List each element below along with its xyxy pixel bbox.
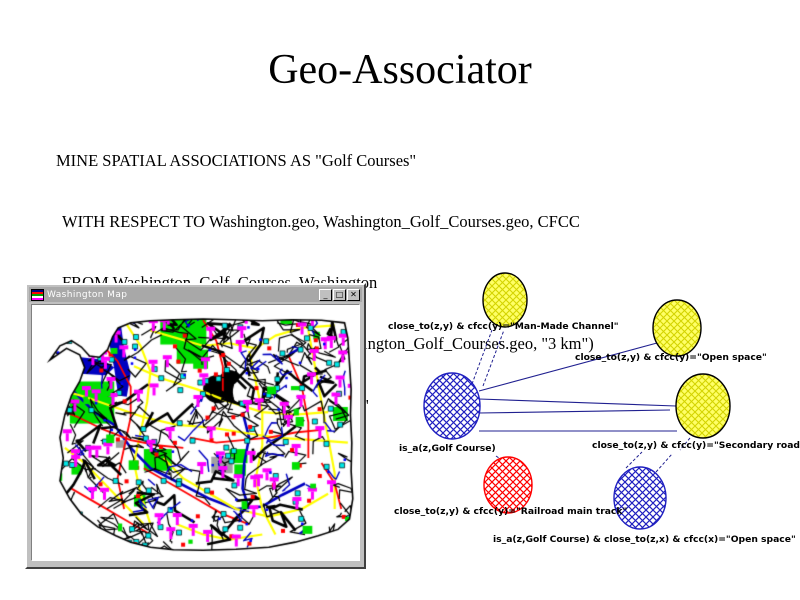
- node-secondary-road[interactable]: [676, 374, 730, 438]
- label-open-space: close_to(z,y) & cfcc(y)="Open space": [575, 352, 767, 363]
- association-graph-svg: close_to(z,y) & cfcc(y)="Man-Made Channe…: [380, 258, 800, 578]
- maximize-icon: □: [334, 290, 345, 299]
- leader-man-made-channel-b: [483, 330, 504, 386]
- node-railroad-main-track[interactable]: [484, 457, 532, 513]
- map-window[interactable]: Washington Map _ □ ✕: [25, 283, 366, 569]
- association-graph: close_to(z,y) & cfcc(y)="Man-Made Channe…: [380, 258, 800, 578]
- minimize-icon: _: [320, 290, 331, 299]
- page-title: Geo-Associator: [0, 47, 800, 93]
- slide-root: Geo-Associator MINE SPATIAL ASSOCIATIONS…: [0, 0, 800, 600]
- label-is-a-golf-course: is_a(z,Golf Course): [399, 443, 496, 454]
- node-open-space-top[interactable]: [653, 300, 701, 356]
- label-railroad-main-track: close_to(z,y) & cfcc(y)="Railroad main t…: [394, 506, 627, 517]
- minimize-button[interactable]: _: [319, 289, 332, 301]
- edge-golf-to-open-space-top: [479, 343, 657, 391]
- close-button[interactable]: ✕: [347, 289, 360, 301]
- node-open-space-combined[interactable]: [614, 467, 666, 529]
- map-window-titlebar[interactable]: Washington Map _ □ ✕: [29, 287, 362, 302]
- leader-man-made-channel-a: [472, 330, 492, 384]
- query-line-mine: MINE SPATIAL ASSOCIATIONS AS "Golf Cours…: [56, 151, 594, 171]
- leader-secondary-road-c: [656, 454, 672, 472]
- leader-secondary-road-b: [626, 452, 642, 468]
- washington-gis-map[interactable]: [32, 305, 360, 560]
- edge-golf-to-secondary-road-a: [479, 399, 676, 406]
- label-man-made-channel: close_to(z,y) & cfcc(y)="Man-Made Channe…: [388, 321, 619, 332]
- graph-nodes: [424, 273, 730, 529]
- query-line-with: WITH RESPECT TO Washington.geo, Washingt…: [56, 212, 594, 232]
- maximize-button[interactable]: □: [333, 289, 346, 301]
- label-open-space-combined: is_a(z,Golf Course) & close_to(z,x) & cf…: [493, 534, 796, 545]
- node-golf-course[interactable]: [424, 373, 480, 439]
- edge-golf-to-secondary-road-b: [479, 410, 670, 413]
- map-window-icon: [31, 289, 44, 301]
- close-icon: ✕: [348, 290, 359, 299]
- map-window-title: Washington Map: [47, 289, 318, 301]
- label-secondary-road: close_to(z,y) & cfcc(y)="Secondary road": [592, 440, 800, 451]
- map-canvas-area[interactable]: [31, 304, 360, 561]
- node-man-made-channel[interactable]: [483, 273, 527, 327]
